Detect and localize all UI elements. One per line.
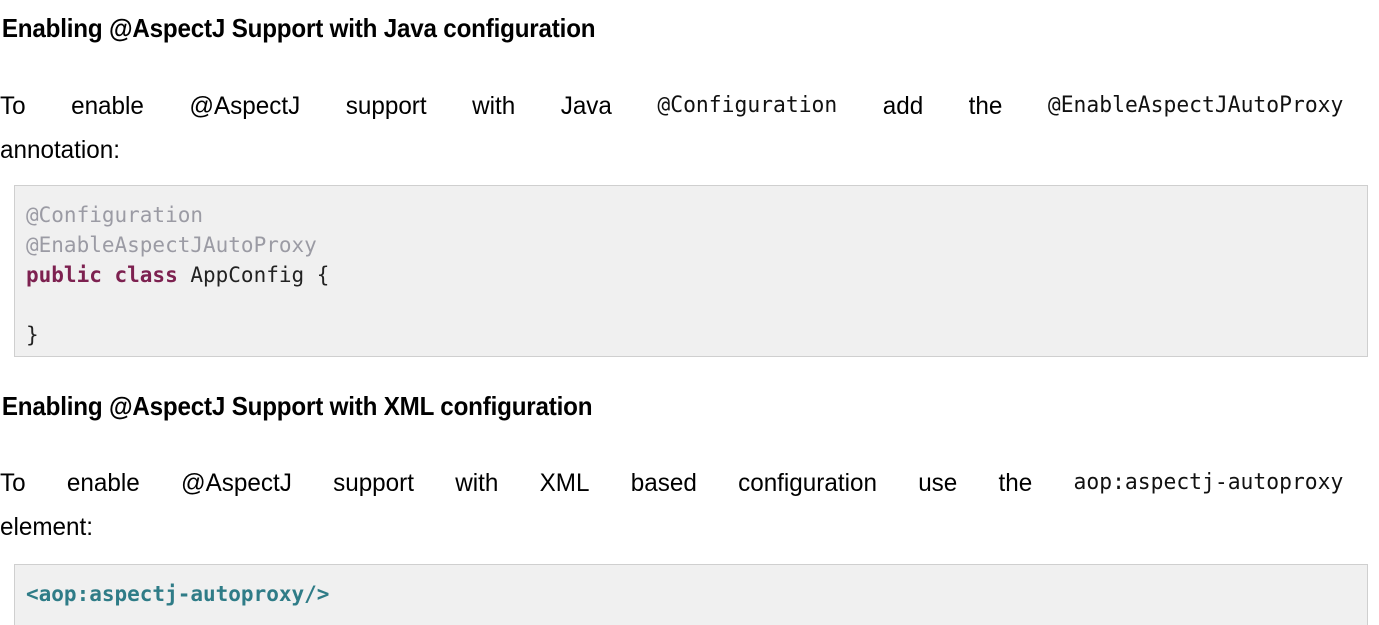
paragraph-java-intro: To enable @AspectJ support with Java @Co… [0, 84, 1343, 172]
document-page: Enabling @AspectJ Support with Java conf… [0, 0, 1379, 625]
word: support [333, 461, 414, 505]
word: support [346, 84, 427, 128]
paragraph-line: element: [0, 505, 1343, 549]
word: use [918, 461, 957, 505]
word: @AspectJ [181, 461, 292, 505]
code-line: public class AppConfig { [26, 260, 1367, 290]
code-token-annotation: @Configuration [26, 203, 203, 227]
word: To [0, 461, 26, 505]
code-block-xml: <aop:aspectj-autoproxy/> [14, 564, 1368, 625]
code-block-java: @Configuration@EnableAspectJAutoProxypub… [14, 185, 1368, 357]
section-heading-xml: Enabling @AspectJ Support with XML confi… [0, 391, 592, 421]
word: To [0, 84, 26, 128]
paragraph-line: To enable @AspectJ support with Java @Co… [0, 84, 1343, 128]
inline-code-aop-aspectj-autoproxy: aop:aspectj-autoproxy [1074, 461, 1344, 505]
section-heading-java: Enabling @AspectJ Support with Java conf… [0, 13, 595, 43]
word: based [631, 461, 697, 505]
word: @AspectJ [189, 84, 300, 128]
code-line: @EnableAspectJAutoProxy [26, 230, 1367, 260]
word: enable [67, 461, 140, 505]
code-content-xml: <aop:aspectj-autoproxy/> [26, 579, 1367, 609]
code-token-xml: <aop:aspectj-autoproxy/> [26, 582, 329, 606]
word: configuration [738, 461, 877, 505]
code-token-plain: } [26, 323, 39, 347]
code-line: } [26, 320, 1367, 350]
word: with [455, 461, 498, 505]
code-token-keyword: public class [26, 263, 178, 287]
inline-code-enableaspectjautoproxy: @EnableAspectJAutoProxy [1048, 84, 1344, 128]
word: with [472, 84, 515, 128]
code-content-java: @Configuration@EnableAspectJAutoProxypub… [26, 200, 1367, 350]
paragraph-line: annotation: [0, 128, 1343, 172]
code-token-plain: AppConfig { [178, 263, 330, 287]
code-line: @Configuration [26, 200, 1367, 230]
inline-code-configuration: @Configuration [657, 84, 837, 128]
paragraph-line: To enable @AspectJ support with XML base… [0, 461, 1343, 505]
word: Java [561, 84, 612, 128]
code-line: <aop:aspectj-autoproxy/> [26, 579, 1367, 609]
word: the [999, 461, 1033, 505]
paragraph-xml-intro: To enable @AspectJ support with XML base… [0, 461, 1343, 549]
word: add [883, 84, 923, 128]
word: enable [71, 84, 144, 128]
code-line-blank [26, 290, 1367, 320]
code-token-annotation: @EnableAspectJAutoProxy [26, 233, 317, 257]
word: the [969, 84, 1003, 128]
word: XML [540, 461, 590, 505]
